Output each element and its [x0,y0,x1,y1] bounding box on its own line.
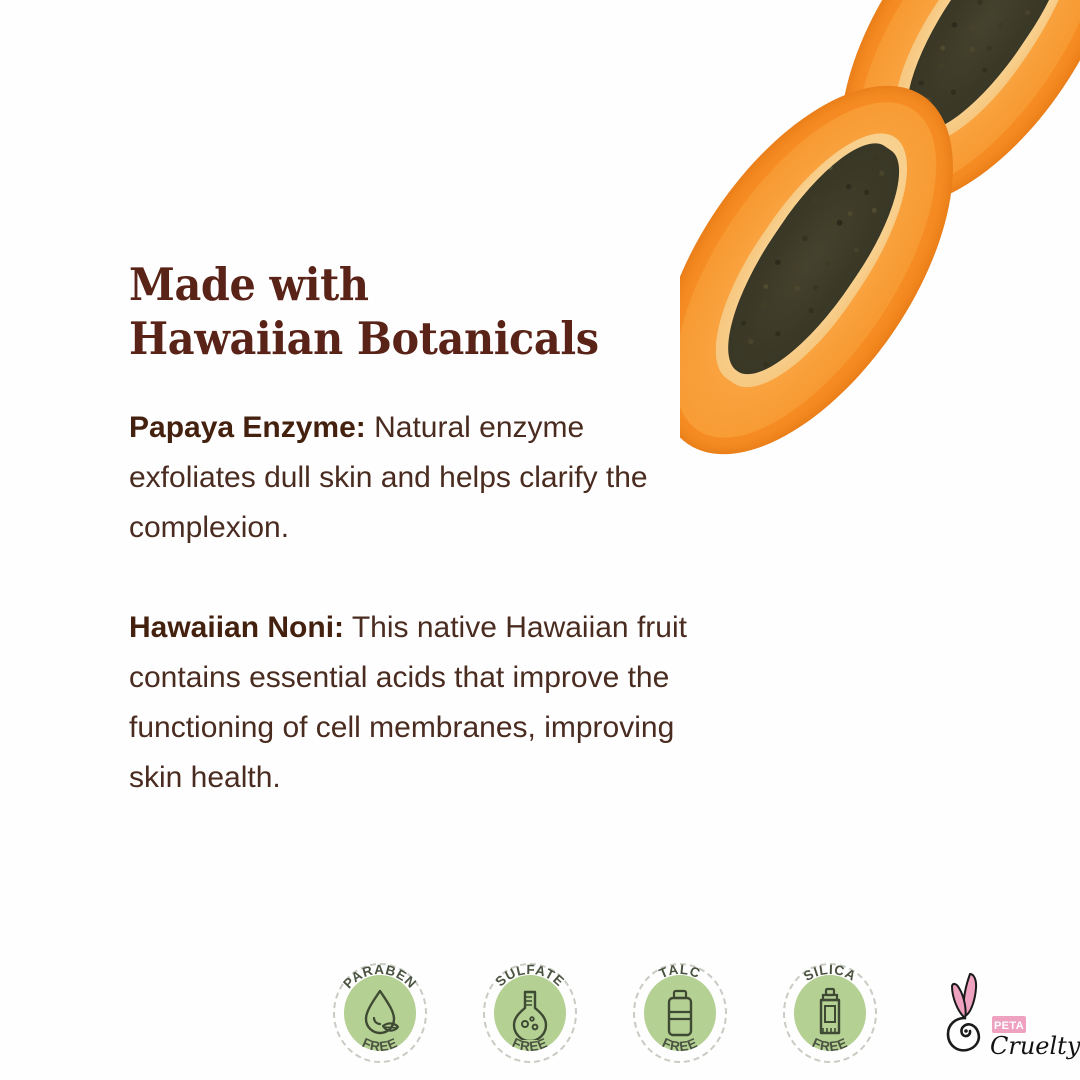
ingredient-name: Hawaiian Noni: [129,611,344,644]
peta-tag-label: PETA [994,1020,1024,1032]
ingredient-list: Papaya Enzyme: Natural enzyme exfoliates… [129,403,729,803]
flask-icon [507,986,553,1040]
papaya-flesh [809,0,1080,230]
text-content: Made with Hawaiian Botanicals Papaya Enz… [129,258,729,803]
droplet-leaf-icon [357,986,403,1040]
papaya-half-back [785,0,1080,254]
bunny-ears-icon [948,974,979,1050]
certification-badges: PARABEN FREE [330,955,1030,1070]
papaya-half-front [680,36,1012,480]
paraben-free-badge: PARABEN FREE [330,958,430,1068]
papaya-seeds [700,123,925,396]
papaya-cavity [865,0,1080,167]
jar-icon [657,986,703,1040]
papaya-image [680,0,1080,480]
ingredient-name: Papaya Enzyme: [129,411,366,444]
peta-cruelty-free-logo: PETA Cruelty-Free [934,960,1080,1065]
papaya-seeds [880,0,1080,152]
talc-free-badge: TALC FREE [630,958,730,1068]
sulfate-free-badge: SULFATE FREE [480,958,580,1068]
tube-icon [807,986,853,1040]
ingredient-hawaiian-noni: Hawaiian Noni: This native Hawaiian frui… [129,603,689,803]
page-title: Made with Hawaiian Botanicals [129,258,681,366]
ingredient-papaya-enzyme: Papaya Enzyme: Natural enzyme exfoliates… [129,403,689,553]
peta-wordmark: Cruelty-Free [990,1032,1080,1060]
poster-canvas: Made with Hawaiian Botanicals Papaya Enz… [0,0,1080,1080]
silica-free-badge: SILICA FREE [780,958,880,1068]
